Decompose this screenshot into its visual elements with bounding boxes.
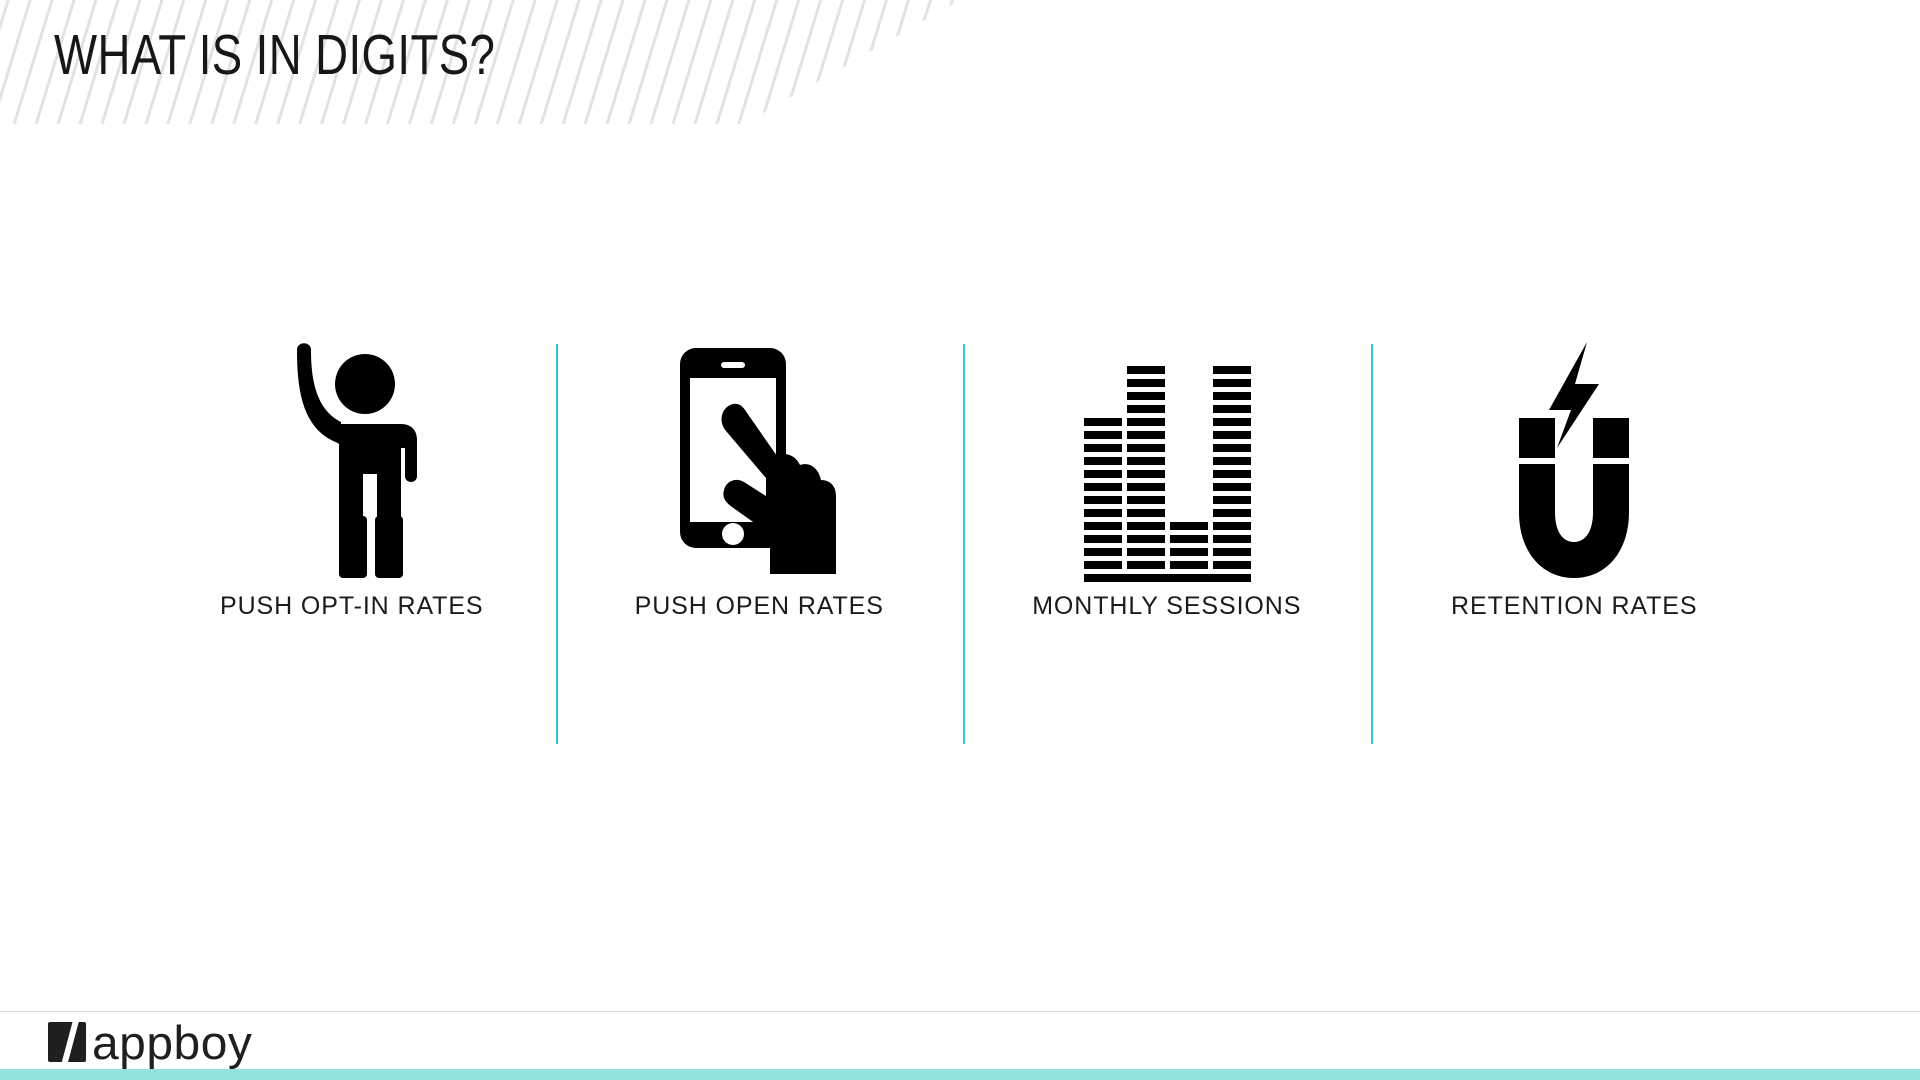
page-title: WHAT IS IN DIGITS? bbox=[54, 22, 495, 88]
appboy-slash-logo-icon bbox=[48, 1022, 86, 1062]
metric-column-push-opt-in[interactable]: PUSH OPT-IN RATES bbox=[148, 336, 556, 746]
metric-label: RETENTION RATES bbox=[1451, 592, 1697, 621]
metric-column-monthly-sessions[interactable]: MONTHLY SESSIONS bbox=[963, 336, 1371, 746]
metric-label: PUSH OPEN RATES bbox=[635, 592, 884, 621]
metric-column-push-open[interactable]: PUSH OPEN RATES bbox=[556, 336, 964, 746]
person-raising-hand-icon bbox=[148, 336, 556, 586]
slide: WHAT IS IN DIGITS? PUSH OPT-IN RATES bbox=[0, 0, 1920, 1080]
smartphone-tap-hand-icon bbox=[556, 336, 964, 586]
horseshoe-magnet-lightning-icon bbox=[1371, 336, 1779, 586]
metric-column-retention[interactable]: RETENTION RATES bbox=[1371, 336, 1779, 746]
metrics-columns: PUSH OPT-IN RATES PUSH OPEN RATES bbox=[148, 336, 1778, 746]
appboy-logo[interactable]: appboy bbox=[48, 1018, 249, 1066]
bar-chart-equalizer-icon bbox=[963, 336, 1371, 586]
footer-accent-bar bbox=[0, 1069, 1920, 1080]
appboy-wordmark: appboy bbox=[92, 1019, 252, 1066]
metric-label: PUSH OPT-IN RATES bbox=[220, 592, 483, 621]
footer-divider bbox=[0, 1011, 1920, 1012]
slide-header: WHAT IS IN DIGITS? bbox=[0, 0, 1920, 124]
metric-label: MONTHLY SESSIONS bbox=[1032, 592, 1301, 621]
